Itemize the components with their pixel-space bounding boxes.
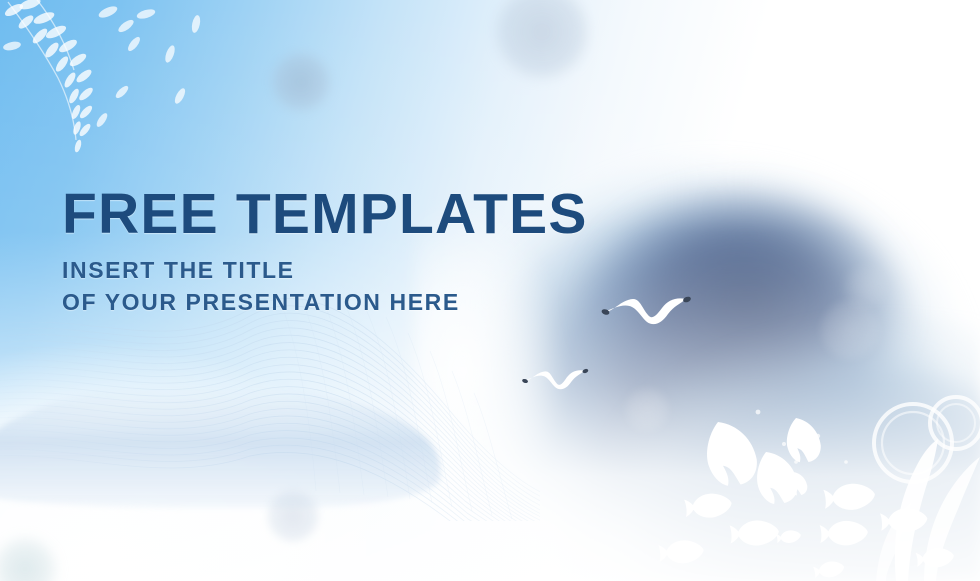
seagull-small-icon: [521, 364, 595, 398]
willow-branch-decoration: [0, 0, 300, 170]
subtitle-line-1: INSERT THE TITLE: [62, 255, 682, 287]
title-text-block: FREE TEMPLATES INSERT THE TITLE OF YOUR …: [62, 186, 682, 318]
falling-leaves: [2, 4, 201, 128]
fine-line-wave-mesh: [0, 291, 540, 521]
presentation-slide: FREE TEMPLATES INSERT THE TITLE OF YOUR …: [0, 0, 980, 581]
angelfish-group: [707, 417, 823, 504]
subtitle-line-2: OF YOUR PRESENTATION HERE: [62, 287, 682, 319]
willow-leaves: [3, 0, 95, 153]
white-reed-blades: [840, 391, 980, 581]
page-title: FREE TEMPLATES: [62, 186, 682, 243]
